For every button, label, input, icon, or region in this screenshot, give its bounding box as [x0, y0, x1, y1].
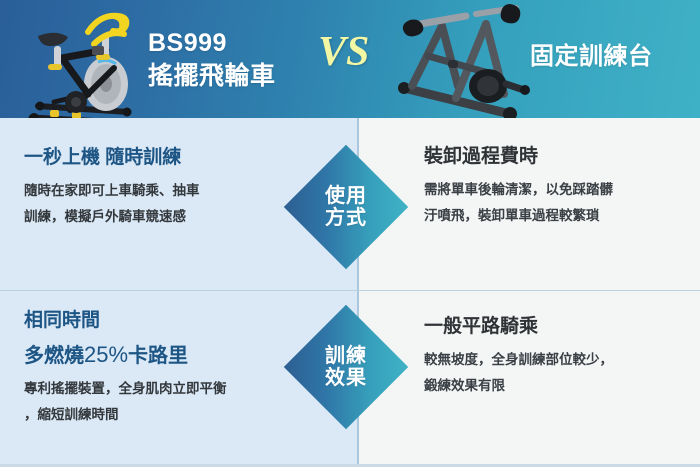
left-product-title: BS999 搖擺飛輪車: [148, 27, 276, 93]
row-1-right-title: 裝卸過程費時: [424, 144, 686, 170]
row-2-left-subtitle-prefix: 多燃燒: [24, 345, 84, 367]
bottom-rule: [0, 464, 700, 467]
right-product-title: 固定訓練台: [530, 40, 653, 73]
product-comparison-infographic: BS999 搖擺飛輪車 VS: [0, 0, 700, 469]
row-2-right-title: 一般平路騎乘: [424, 314, 686, 340]
row-2-left-content: 相同時間 多燃燒25%卡路里 專利搖擺裝置，全身肌肉立即平衡 ，縮短訓練時間: [24, 308, 292, 428]
row-2-left-subtitle: 多燃燒25%卡路里: [24, 341, 292, 370]
bike-trainer-icon: [388, 2, 533, 118]
row-2-right-body: 較無坡度，全身訓練部位較少， 鍛練效果有限: [424, 347, 686, 399]
row-2-badge-shape: [284, 305, 408, 429]
header-banner: BS999 搖擺飛輪車 VS: [0, 0, 700, 118]
row-1-right-body: 需將單車後輪清潔，以免踩踏髒 汙噴飛，裝卸單車過程較繁瑣: [424, 177, 686, 229]
row-1-left-body-line1: 隨時在家即可上車騎乘、抽車: [24, 178, 289, 204]
row-2-left-body-line1: 專利搖擺裝置，全身肌肉立即平衡: [24, 376, 292, 402]
row-divider: [0, 290, 700, 291]
spin-bike-icon: [10, 6, 160, 118]
row-1-left-body-line2: 訓練，模擬戶外騎車競速感: [24, 204, 289, 230]
vs-label: VS: [318, 31, 369, 73]
comparison-body: 一秒上機 隨時訓練 隨時在家即可上車騎乘、抽車 訓練，模擬戶外騎車競速感 裝卸過…: [0, 118, 700, 466]
row-1-left-title: 一秒上機 隨時訓練: [24, 145, 289, 171]
row-1-badge-shape: [284, 145, 408, 269]
row-2-badge: 訓練 效果: [302, 323, 390, 411]
row-1-left-content: 一秒上機 隨時訓練 隨時在家即可上車騎乘、抽車 訓練，模擬戶外騎車競速感: [24, 145, 289, 230]
row-2-left-body-line2: ，縮短訓練時間: [24, 402, 292, 428]
row-2-left-subtitle-suffix: 卡路里: [128, 345, 188, 367]
row-2-left-title: 相同時間: [24, 308, 292, 334]
row-1-right-body-line1: 需將單車後輪清潔，以免踩踏髒: [424, 177, 686, 203]
row-2-right-body-line2: 鍛練效果有限: [424, 373, 686, 399]
left-product-title-line1: BS999: [148, 27, 276, 60]
left-product-title-line2: 搖擺飛輪車: [148, 60, 276, 93]
row-1-right-content: 裝卸過程費時 需將單車後輪清潔，以免踩踏髒 汙噴飛，裝卸單車過程較繁瑣: [424, 144, 686, 229]
row-2-right-content: 一般平路騎乘 較無坡度，全身訓練部位較少， 鍛練效果有限: [424, 314, 686, 399]
row-1-right-body-line2: 汙噴飛，裝卸單車過程較繁瑣: [424, 203, 686, 229]
row-2-left-body: 專利搖擺裝置，全身肌肉立即平衡 ，縮短訓練時間: [24, 376, 292, 428]
row-1-left-body: 隨時在家即可上車騎乘、抽車 訓練，模擬戶外騎車競速感: [24, 178, 289, 230]
row-2-right-body-line1: 較無坡度，全身訓練部位較少，: [424, 347, 686, 373]
row-1-badge: 使用 方式: [302, 163, 390, 251]
row-2-left-subtitle-highlight: 25%: [84, 342, 128, 367]
